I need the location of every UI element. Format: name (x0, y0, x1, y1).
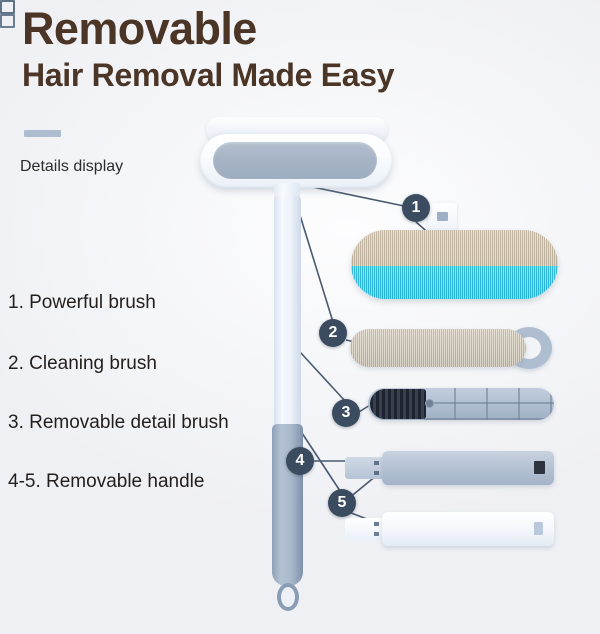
callout-badge-5: 5 (328, 489, 356, 517)
part4-connector-clips-icon (374, 461, 379, 475)
product-infographic: Removable Hair Removal Made Easy Details… (0, 0, 600, 634)
part2-cleaning-brush (350, 329, 526, 367)
details-marker-bar (24, 130, 61, 137)
part5-handle-segment (382, 512, 554, 546)
part5-connector-square-icon (0, 14, 15, 28)
part4-end-port-icon (534, 461, 545, 474)
callout-badge-3: 3 (332, 399, 360, 427)
callout-badge-1: 1 (402, 194, 430, 222)
details-display-label: Details display (20, 158, 123, 176)
brush-head-pad (213, 142, 377, 179)
part3-bristles (370, 389, 426, 419)
brush-hanging-hole (277, 583, 299, 611)
part3-grid-pattern (424, 388, 554, 420)
part4-handle-segment (382, 451, 554, 485)
part4-connector-square-icon (0, 0, 15, 14)
part1-lint-pad (351, 230, 558, 299)
part1-cyan-surface (351, 266, 558, 299)
feature-item-4: 4-5. Removable handle (8, 471, 204, 493)
feature-item-1: 1. Powerful brush (8, 292, 156, 314)
feature-item-3: 3. Removable detail brush (8, 412, 229, 434)
feature-item-2: 2. Cleaning brush (8, 353, 157, 375)
page-title: Removable (22, 4, 257, 54)
brush-shaft-upper (274, 196, 301, 436)
part5-connector-clips-icon (374, 522, 379, 536)
part1-beige-surface (351, 230, 558, 266)
part5-end-port-icon (534, 522, 543, 535)
page-subtitle: Hair Removal Made Easy (22, 57, 394, 94)
part3-screw-icon (425, 399, 434, 408)
part1-tab-square-icon (437, 212, 448, 221)
callout-badge-4: 4 (286, 447, 314, 475)
callout-badge-2: 2 (319, 319, 347, 347)
